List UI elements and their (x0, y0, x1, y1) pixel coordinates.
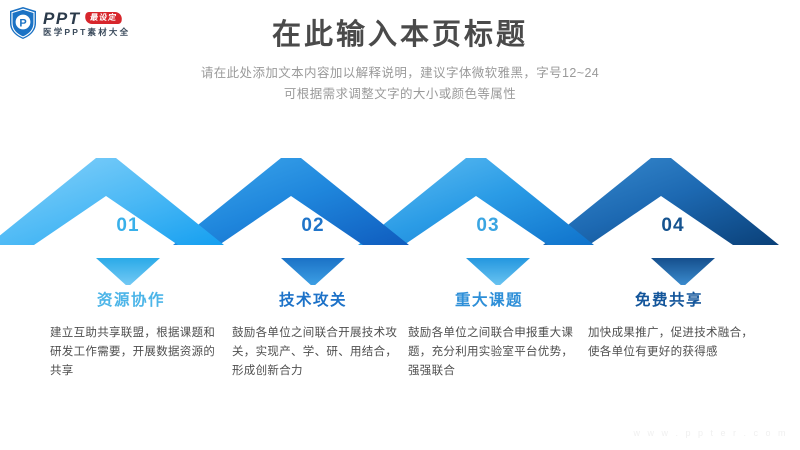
step-number-2: 02 (253, 215, 373, 237)
step-heading-2: 技术攻关 (224, 292, 402, 311)
chevron-diagram (0, 140, 800, 285)
step-body-1: 建立互助共享联盟，根据课题和研发工作需要，开展数据资源的共享 (42, 324, 220, 381)
step-body-2: 鼓励各单位之间联合开展技术攻关，实现产、学、研、用结合，形成创新合力 (224, 324, 402, 381)
subtitle-line-1: 请在此处添加文本内容加以解释说明，建议字体微软雅黑，字号12~24 (0, 63, 800, 84)
subtitle-line-2: 可根据需求调整文字的大小或颜色等属性 (0, 84, 800, 105)
page-title: 在此输入本页标题 (0, 17, 800, 53)
step-heading-1: 资源协作 (42, 292, 220, 311)
site-watermark: w w w . p p t e r . c o m (633, 428, 788, 438)
step-number-1: 01 (68, 215, 188, 237)
step-column-1: 资源协作 建立互助共享联盟，根据课题和研发工作需要，开展数据资源的共享 (42, 292, 220, 381)
pointer-triangle-1 (96, 258, 160, 285)
pointer-triangle-3 (466, 258, 530, 285)
step-number-4: 04 (613, 215, 733, 237)
slide-canvas: P PPT 最设定 医学PPT素材大全 在此输入本页标题 请在此处添加文本内容加… (0, 0, 800, 450)
step-column-3: 重大课题 鼓励各单位之间联合申报重大课题，充分利用实验室平台优势，强强联合 (400, 292, 578, 381)
step-column-4: 免费共享 加快成果推广，促进技术融合，使各单位有更好的获得感 (580, 292, 758, 362)
step-body-3: 鼓励各单位之间联合申报重大课题，充分利用实验室平台优势，强强联合 (400, 324, 578, 381)
step-body-4: 加快成果推广，促进技术融合，使各单位有更好的获得感 (580, 324, 758, 362)
pointer-triangle-4 (651, 258, 715, 285)
step-number-3: 03 (428, 215, 548, 237)
page-subtitle: 请在此处添加文本内容加以解释说明，建议字体微软雅黑，字号12~24 可根据需求调… (0, 63, 800, 105)
step-column-2: 技术攻关 鼓励各单位之间联合开展技术攻关，实现产、学、研、用结合，形成创新合力 (224, 292, 402, 381)
pointer-triangle-2 (281, 258, 345, 285)
step-heading-3: 重大课题 (400, 292, 578, 311)
step-heading-4: 免费共享 (580, 292, 758, 311)
